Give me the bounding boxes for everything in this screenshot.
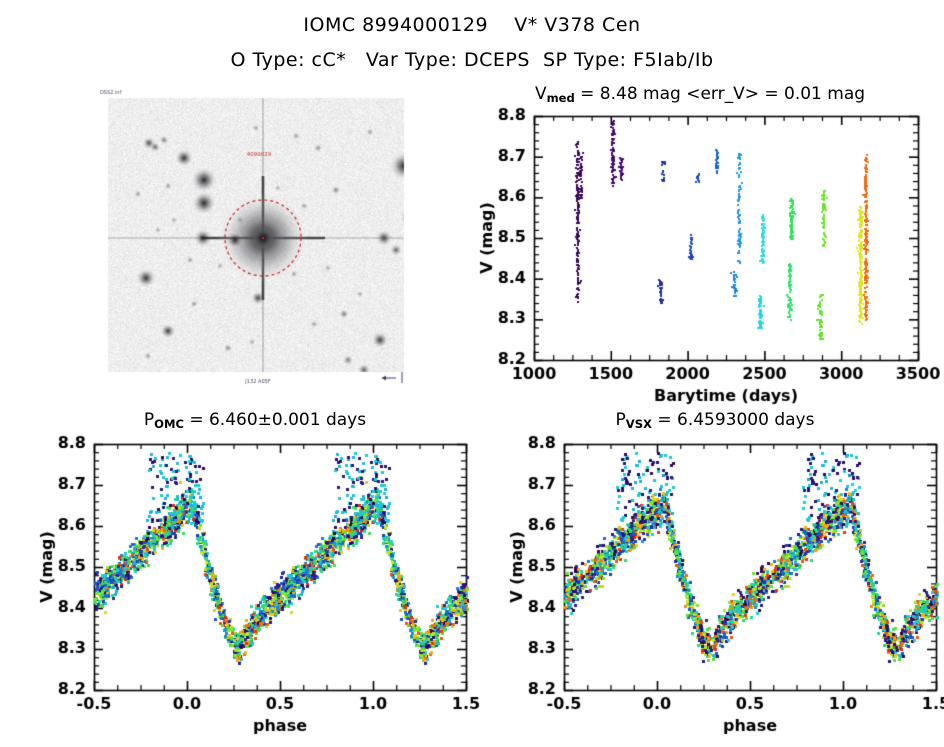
finder-chart — [98, 86, 414, 386]
vsx-panel-title: PVSX = 6.4593000 days — [500, 410, 930, 430]
omc-panel-title: POMC = 6.460±0.001 days — [40, 410, 470, 430]
omc-symbol: P — [144, 410, 154, 430]
omc-period-text: = 6.460±0.001 days — [184, 410, 366, 430]
page-subtitle: O Type: cC* Var Type: DCEPS SP Type: F5I… — [0, 49, 944, 71]
omc-phase-plot — [30, 430, 490, 742]
vsx-period-text: = 6.4593000 days — [652, 410, 815, 430]
vsx-phase-plot — [500, 430, 944, 742]
timeseries-plot — [470, 100, 940, 410]
page-title: IOMC 8994000129 V* V378 Cen — [0, 14, 944, 36]
vsx-symbol: P — [616, 410, 626, 430]
